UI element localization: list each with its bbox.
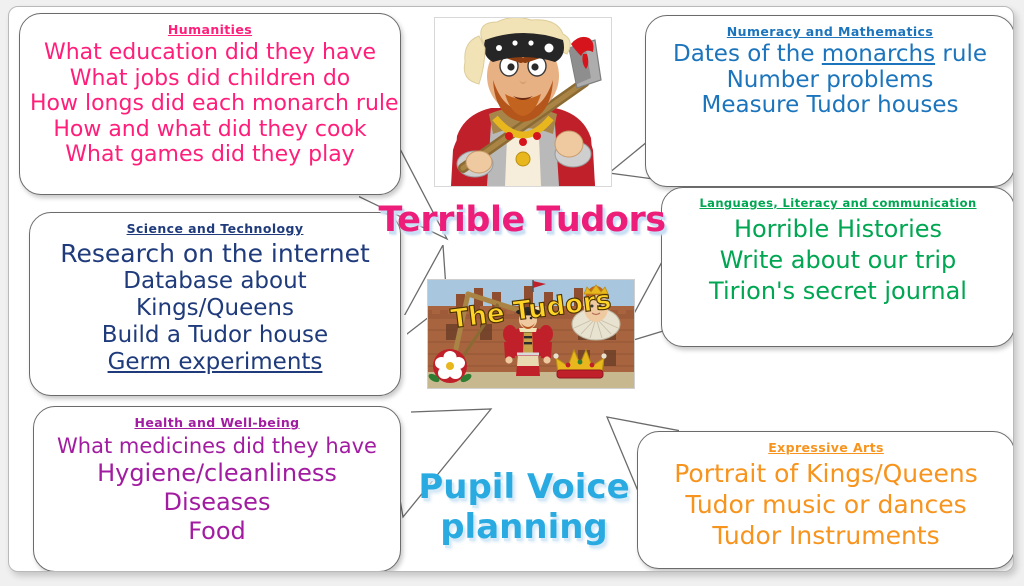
bubble-line: Research on the internet [40, 239, 390, 268]
bubble-line: What education did they have [30, 40, 390, 66]
bubble-heading-humanities: Humanities [30, 22, 390, 37]
bubble-line-text-pre: Dates of the [673, 41, 822, 67]
bubble-heading-numeracy: Numeracy and Mathematics [656, 24, 1004, 39]
page-title: Terrible Tudors [367, 201, 677, 239]
bubble-heading-science: Science and Technology [40, 221, 390, 236]
bubble-line: Food [44, 517, 390, 546]
bubble-line: Kings/Queens [40, 295, 390, 322]
bubble-expressive-arts[interactable]: Expressive Arts Portrait of Kings/Queens… [637, 431, 1014, 569]
bubble-languages[interactable]: Languages, Literacy and communication Ho… [661, 187, 1014, 347]
bubble-line: How and what did they cook [30, 117, 390, 143]
bubble-line: Diseases [44, 488, 390, 517]
bubble-line: Hygiene/cleanliness [44, 459, 390, 488]
bubble-line-underlined-word: monarchs [822, 41, 935, 67]
bubble-line: Tudor Instruments [648, 520, 1004, 551]
bubble-line: Measure Tudor houses [656, 93, 1004, 119]
bubble-line: What games did they play [30, 142, 390, 168]
subtitle-line-1: Pupil Voice [394, 467, 654, 507]
bubble-line: Tirion's secret journal [672, 276, 1004, 307]
slide-canvas: Humanities What education did they have … [8, 6, 1014, 572]
bubble-health[interactable]: Health and Well-being What medicines did… [33, 406, 401, 572]
bubble-numeracy[interactable]: Numeracy and Mathematics Dates of the mo… [645, 15, 1014, 187]
bubble-line: Build a Tudor house [40, 322, 390, 349]
bubble-line: How longs did each monarch rule [30, 91, 390, 117]
bubble-humanities[interactable]: Humanities What education did they have … [19, 13, 401, 195]
bubble-line: Database about [40, 268, 390, 295]
bubble-line: Germ experiments [40, 349, 390, 376]
bubble-line: Dates of the monarchs rule [656, 42, 1004, 68]
bubble-line: Write about our trip [672, 245, 1004, 276]
bubble-line: What medicines did they have [44, 433, 390, 459]
bubble-science[interactable]: Science and Technology Research on the i… [29, 212, 401, 396]
bubble-line-text-post: rule [935, 41, 987, 67]
bubble-line: Tudor music or dances [648, 489, 1004, 520]
subtitle: Pupil Voice planning [394, 467, 654, 547]
image-cartoon-henry-viii [434, 17, 612, 187]
bubble-line: Horrible Histories [672, 214, 1004, 245]
subtitle-line-2: planning [394, 507, 654, 547]
bubble-line: Number problems [656, 68, 1004, 94]
image-the-tudors-banner: The Tudors [427, 279, 635, 389]
bubble-line: What jobs did children do [30, 66, 390, 92]
bubble-heading-languages: Languages, Literacy and communication [672, 196, 1004, 211]
bubble-heading-health: Health and Well-being [44, 415, 390, 430]
bubble-heading-expressive-arts: Expressive Arts [648, 440, 1004, 455]
bubble-line: Portrait of Kings/Queens [648, 458, 1004, 489]
